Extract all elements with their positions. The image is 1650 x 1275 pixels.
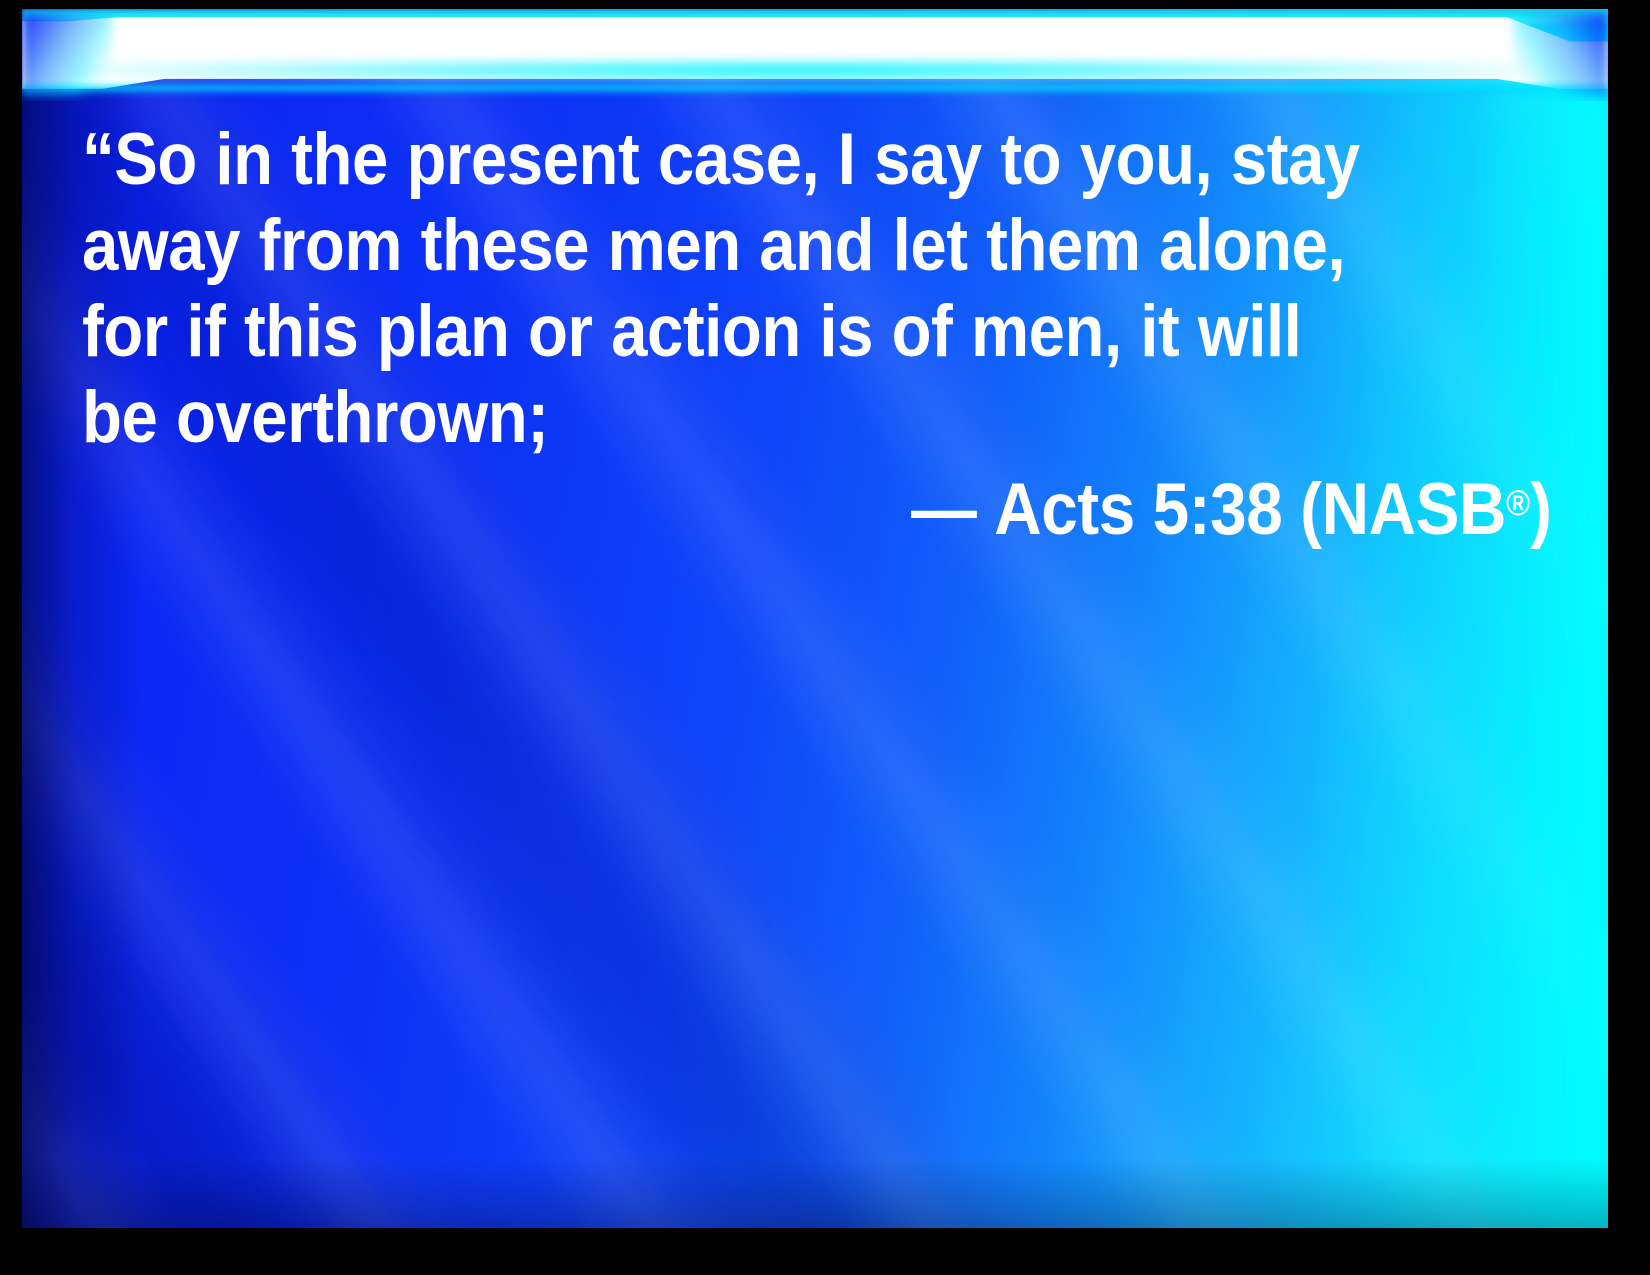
verse-text-block: “So in the present case, I say to you, s… — [82, 117, 1552, 461]
verse-line-4: be overthrown; — [82, 375, 1398, 461]
verse-attribution: — Acts 5:38 (NASB®) — [82, 460, 1552, 553]
attribution-reference: Acts 5:38 — [995, 469, 1283, 550]
verse-slide: “So in the present case, I say to you, s… — [0, 0, 1650, 1275]
slide-canvas: “So in the present case, I say to you, s… — [22, 9, 1608, 1228]
header-light-band — [22, 9, 1608, 101]
header-band-left-taper — [22, 13, 112, 97]
verse-line-2: away from these men and let them alone, — [82, 203, 1398, 289]
header-band-right-taper — [1513, 13, 1608, 99]
registered-trademark-icon: ® — [1506, 482, 1530, 523]
verse-line-3: for if this plan or action is of men, it… — [82, 289, 1398, 375]
attribution-inner: — Acts 5:38 (NASB®) — [912, 460, 1552, 553]
attribution-translation-close: ) — [1531, 469, 1552, 550]
attribution-dash: — — [912, 469, 977, 550]
attribution-translation-open: (NASB — [1301, 469, 1507, 550]
background-bottom-shade — [22, 1158, 1608, 1228]
header-band-underline — [22, 85, 1608, 95]
verse-line-1: “So in the present case, I say to you, s… — [82, 117, 1398, 203]
header-band-cyan-wash — [70, 61, 1529, 83]
